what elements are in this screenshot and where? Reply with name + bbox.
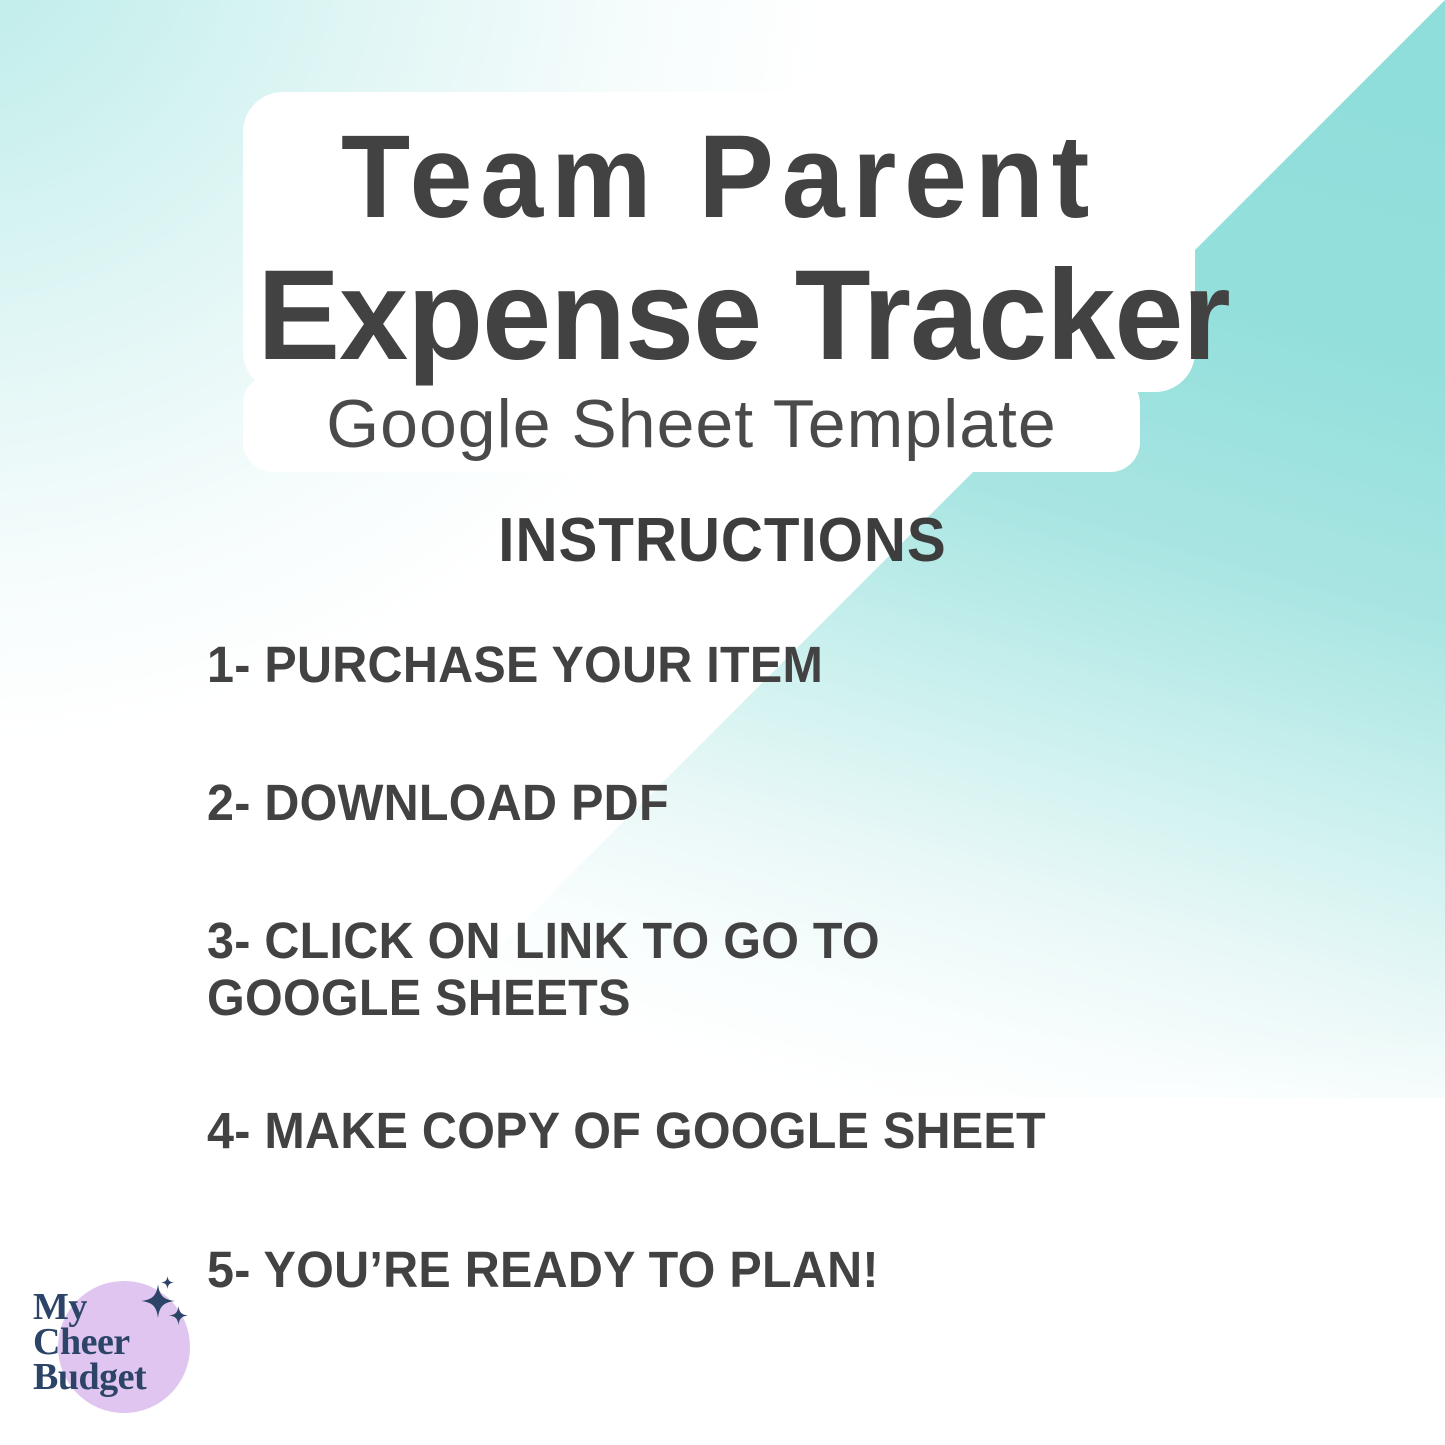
poster-canvas: Team Parent Expense Tracker Google Sheet… (0, 0, 1445, 1445)
list-item: 1- PURCHASE YOUR ITEM (207, 636, 1205, 693)
title-line-one: Team Parent (262, 118, 1176, 236)
sparkle-icon-tiny (161, 1276, 174, 1289)
logo-line-three: Budget (33, 1360, 193, 1395)
title-line-two: Expense Tracker (257, 252, 1180, 380)
list-item: 3- CLICK ON LINK TO GO TO GOOGLE SHEETS (207, 912, 1205, 1026)
list-item: 5- YOU’RE READY TO PLAN! (207, 1241, 1205, 1298)
logo-line-one: My (33, 1290, 193, 1325)
logo-wordmark: My Cheer Budget (33, 1290, 193, 1395)
subtitle: Google Sheet Template (243, 390, 1140, 458)
brand-logo: My Cheer Budget (33, 1278, 193, 1430)
instructions-heading: INSTRUCTIONS (43, 505, 1401, 576)
list-item: 2- DOWNLOAD PDF (207, 774, 1205, 831)
instructions-list: 1- PURCHASE YOUR ITEM 2- DOWNLOAD PDF 3-… (207, 636, 1257, 1298)
list-item: 4- MAKE COPY OF GOOGLE SHEET (207, 1102, 1205, 1159)
logo-line-two: Cheer (33, 1325, 193, 1360)
